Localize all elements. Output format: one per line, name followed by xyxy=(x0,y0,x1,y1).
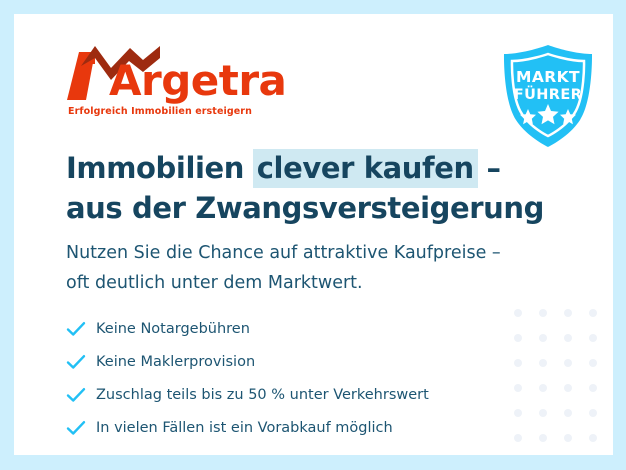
grid-dot xyxy=(514,359,522,367)
grid-dot xyxy=(589,359,597,367)
grid-dot xyxy=(564,359,572,367)
grid-dot xyxy=(539,409,547,417)
grid-dot xyxy=(514,334,522,342)
list-item: In vielen Fällen ist ein Vorabkauf mögli… xyxy=(66,411,506,444)
grid-dot xyxy=(539,359,547,367)
list-item: Zuschlag teils bis zu 50 % unter Verkehr… xyxy=(66,378,506,411)
grid-dot xyxy=(564,309,572,317)
headline-line-2: aus der Zwangsversteigerung xyxy=(66,188,544,228)
list-item: Keine Maklerprovision xyxy=(66,345,506,378)
grid-dot xyxy=(589,309,597,317)
badge-line-2: FÜHRER xyxy=(514,85,582,103)
grid-dot xyxy=(564,434,572,442)
grid-dot xyxy=(589,409,597,417)
page-title: Immobilien clever kaufen – aus der Zwang… xyxy=(66,148,544,228)
dot-grid-decoration xyxy=(514,309,613,455)
headline-line-1-after: – xyxy=(477,151,501,185)
headline-line-1-before: Immobilien xyxy=(66,151,254,185)
grid-dot xyxy=(539,334,547,342)
grid-dot xyxy=(564,384,572,392)
grid-dot xyxy=(514,434,522,442)
list-item-label: In vielen Fällen ist ein Vorabkauf mögli… xyxy=(96,420,393,436)
grid-dot xyxy=(514,409,522,417)
grid-dot xyxy=(514,384,522,392)
check-icon xyxy=(66,387,96,403)
headline-line-1: Immobilien clever kaufen – xyxy=(66,148,544,188)
subtitle: Nutzen Sie die Chance auf attraktive Kau… xyxy=(66,238,501,298)
promo-banner: Argetra Erfolgreich Immobilien ersteiger… xyxy=(0,0,626,470)
grid-dot xyxy=(514,309,522,317)
grid-dot xyxy=(589,334,597,342)
list-item-label: Zuschlag teils bis zu 50 % unter Verkehr… xyxy=(96,387,429,403)
grid-dot xyxy=(539,309,547,317)
logo-tagline: Erfolgreich Immobilien ersteigern xyxy=(68,106,252,117)
market-leader-badge: MARKT FÜHRER xyxy=(496,42,600,150)
headline-highlight: clever kaufen xyxy=(253,149,478,188)
grid-dot xyxy=(589,434,597,442)
badge-line-1: MARKT xyxy=(516,68,580,86)
benefit-list: Keine NotargebührenKeine Maklerprovision… xyxy=(66,312,506,444)
grid-dot xyxy=(539,384,547,392)
grid-dot xyxy=(564,334,572,342)
content-card: Argetra Erfolgreich Immobilien ersteiger… xyxy=(14,14,613,455)
list-item: Keine Notargebühren xyxy=(66,312,506,345)
check-icon xyxy=(66,420,96,436)
list-item-label: Keine Maklerprovision xyxy=(96,354,255,370)
list-item-label: Keine Notargebühren xyxy=(96,321,250,337)
check-icon xyxy=(66,354,96,370)
grid-dot xyxy=(589,384,597,392)
subtitle-line-1: Nutzen Sie die Chance auf attraktive Kau… xyxy=(66,238,501,268)
grid-dot xyxy=(539,434,547,442)
argetra-logo[interactable]: Argetra Erfolgreich Immobilien ersteiger… xyxy=(55,44,265,130)
check-icon xyxy=(66,321,96,337)
subtitle-line-2: oft deutlich unter dem Marktwert. xyxy=(66,268,501,298)
logo-wordmark: Argetra xyxy=(109,60,286,102)
grid-dot xyxy=(564,409,572,417)
